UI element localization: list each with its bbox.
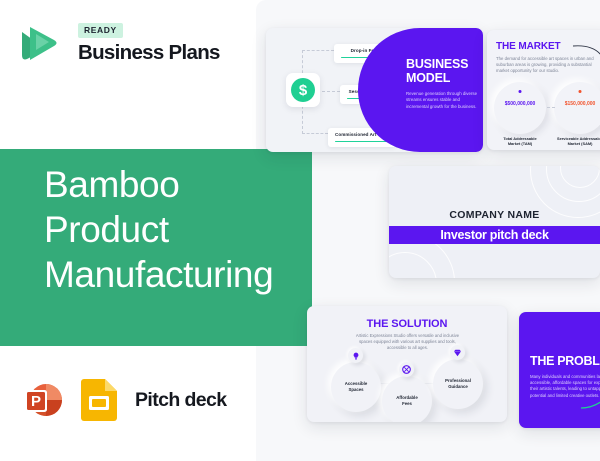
- solution-body: Artistic Expressions Studio offers versa…: [351, 333, 464, 351]
- slide-card-market[interactable]: THE MARKET The demand for accessible art…: [487, 30, 600, 150]
- problem-title: THE PROBLEM: [530, 354, 600, 368]
- curved-arrow-icon: [572, 42, 600, 70]
- promo-banner: Bamboo Product Manufacturing READY Busin…: [0, 0, 600, 461]
- solution-bubble: Accessible Spaces: [331, 362, 381, 412]
- solution-bubble: Affordable Fees: [382, 376, 432, 422]
- format-label: Pitch deck: [135, 389, 227, 412]
- ready-badge: READY: [78, 23, 123, 38]
- powerpoint-file-icon: P: [22, 378, 66, 422]
- slide-card-problem[interactable]: THE PROBLEM Many individuals and communi…: [519, 312, 600, 428]
- pitch-company-name: COMPANY NAME: [389, 209, 600, 221]
- metric-value: $500,000,000: [494, 101, 546, 107]
- slide-card-business-model[interactable]: $ Drop-in Fees Session Workshops Commiss…: [266, 28, 483, 152]
- format-badges: P Pitch deck: [22, 378, 227, 422]
- metric-value: $150,000,000: [554, 101, 600, 107]
- lightbulb-icon: [348, 348, 363, 363]
- solution-item-label: Affordable Fees: [396, 395, 418, 407]
- solution-title: THE SOLUTION: [307, 318, 507, 330]
- brand-name: Business Plans: [78, 41, 220, 65]
- swoosh-icon: [581, 396, 600, 410]
- slide-card-solution[interactable]: THE SOLUTION Artistic Expressions Studio…: [307, 306, 507, 422]
- decorative-rings: [389, 166, 600, 278]
- business-model-title: BUSINESS MODEL: [406, 58, 478, 85]
- slide-card-pitch-cover[interactable]: COMPANY NAME Investor pitch deck: [389, 166, 600, 278]
- chip-underline: [335, 141, 389, 143]
- metric-caption: Total Addressable Market (TAM): [492, 136, 548, 146]
- market-metric: $500,000,000 Total Addressable Market (T…: [494, 82, 546, 134]
- solution-item-label: Accessible Spaces: [345, 381, 367, 393]
- metric-dot: [579, 90, 582, 93]
- dollar-sign-icon: $: [291, 78, 315, 102]
- hero-title: Bamboo Product Manufacturing: [44, 162, 312, 297]
- metric-caption: Serviceable Addressable Market (SAM): [552, 136, 600, 146]
- solution-item-label: Professional Guidance: [445, 378, 471, 390]
- metric-connector: [547, 107, 555, 108]
- google-slides-file-icon: [79, 378, 120, 422]
- market-title: THE MARKET: [496, 41, 561, 52]
- solution-bubble: Professional Guidance: [433, 359, 483, 409]
- market-metrics: $500,000,000 Total Addressable Market (T…: [494, 82, 600, 134]
- diamond-icon: [450, 345, 465, 360]
- dollar-badge: $: [286, 73, 320, 107]
- pitch-subtitle: Investor pitch deck: [440, 228, 548, 242]
- market-metric: $150,000,000 Serviceable Addressable Mar…: [554, 82, 600, 134]
- connector-middle: [322, 91, 340, 92]
- brand-logo-text: READY Business Plans: [78, 20, 220, 65]
- metric-dot: [519, 90, 522, 93]
- play-triangle-logo-icon: [18, 22, 62, 66]
- connector-top: [302, 50, 334, 51]
- pitch-subtitle-band: Investor pitch deck: [389, 226, 600, 244]
- svg-text:P: P: [31, 393, 41, 410]
- business-model-panel: BUSINESS MODEL Revenue generation throug…: [358, 28, 483, 152]
- connector-bottom: [302, 133, 328, 134]
- business-model-body: Revenue generation through diverse strea…: [406, 91, 478, 110]
- coin-icon: [399, 362, 414, 377]
